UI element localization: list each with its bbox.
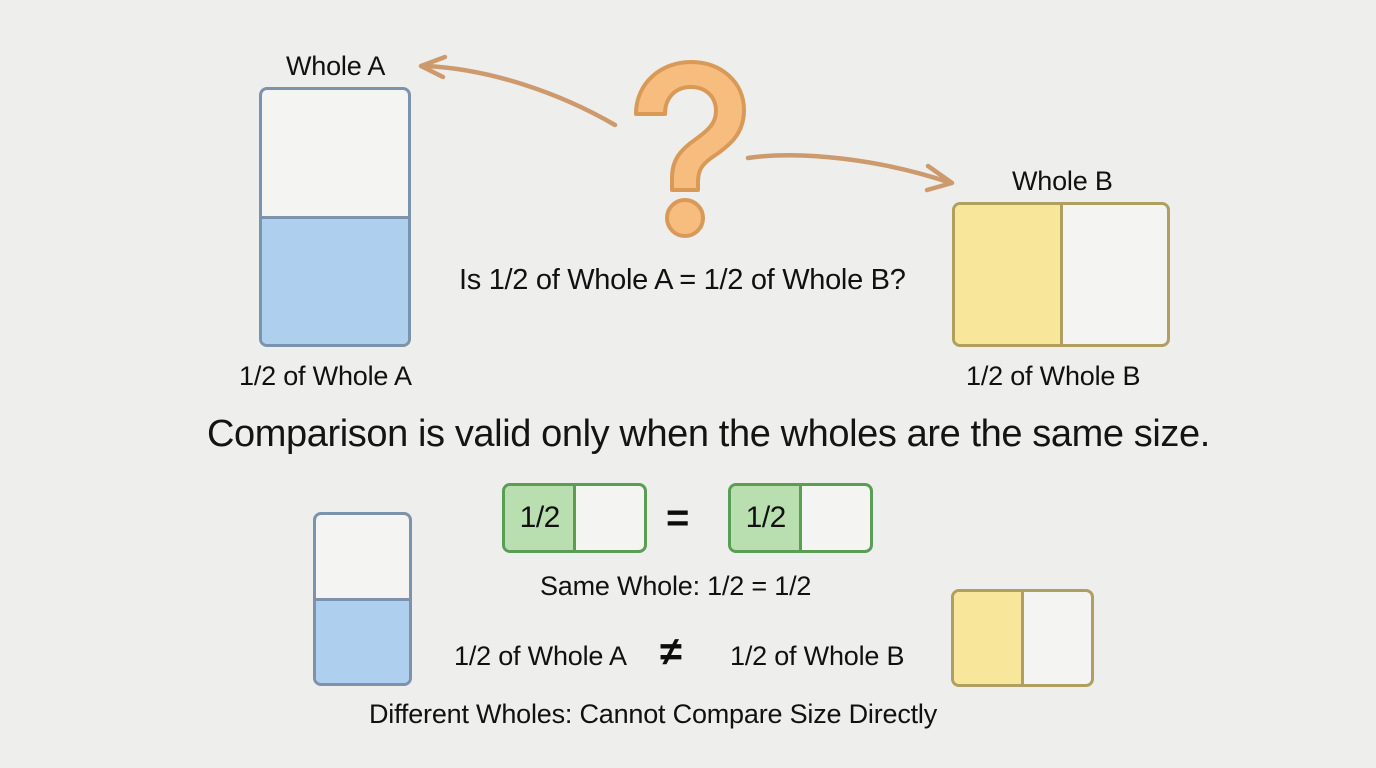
whole-a-shaded-half: [262, 217, 408, 344]
different-wholes-yellow-shaded-half: [954, 592, 1023, 684]
different-wholes-left-text: 1/2 of Whole A: [454, 641, 627, 672]
same-whole-left-bar: 1/2: [502, 483, 647, 553]
whole-a-divider: [262, 216, 408, 219]
same-whole-right-bar: 1/2: [728, 483, 873, 553]
diagram-canvas: Whole A 1/2 of Whole A Whole B 1/2 of Wh: [0, 0, 1376, 768]
whole-b-divider: [1060, 205, 1063, 344]
same-whole-caption: Same Whole: 1/2 = 1/2: [540, 571, 811, 602]
whole-b-shaded-half: [955, 205, 1061, 344]
headline-statement: Comparison is valid only when the wholes…: [207, 413, 1210, 456]
whole-b-title: Whole B: [1012, 166, 1113, 197]
equals-operator: =: [666, 498, 689, 538]
whole-a-bar: [259, 87, 411, 347]
different-wholes-blue-shaded-half: [316, 599, 409, 683]
different-wholes-yellow-divider: [1021, 592, 1024, 684]
comparison-question-text: Is 1/2 of Whole A = 1/2 of Whole B?: [459, 264, 906, 297]
whole-b-caption: 1/2 of Whole B: [966, 361, 1140, 392]
different-wholes-caption: Different Wholes: Cannot Compare Size Di…: [369, 699, 937, 730]
curved-arrow-left-icon: [410, 55, 630, 135]
different-wholes-blue-divider: [316, 598, 409, 601]
same-whole-left-fraction-label: 1/2: [505, 486, 575, 550]
different-wholes-right-text: 1/2 of Whole B: [730, 641, 904, 672]
not-equals-operator: ≠: [660, 632, 682, 672]
question-mark-icon: [628, 58, 752, 240]
different-wholes-yellow-bar: [951, 589, 1094, 687]
different-wholes-blue-bar: [313, 512, 412, 686]
curved-arrow-right-icon: [742, 146, 962, 196]
whole-a-title: Whole A: [286, 51, 385, 82]
whole-b-bar: [952, 202, 1170, 347]
whole-a-caption: 1/2 of Whole A: [239, 361, 412, 392]
same-whole-right-fraction-label: 1/2: [731, 486, 801, 550]
